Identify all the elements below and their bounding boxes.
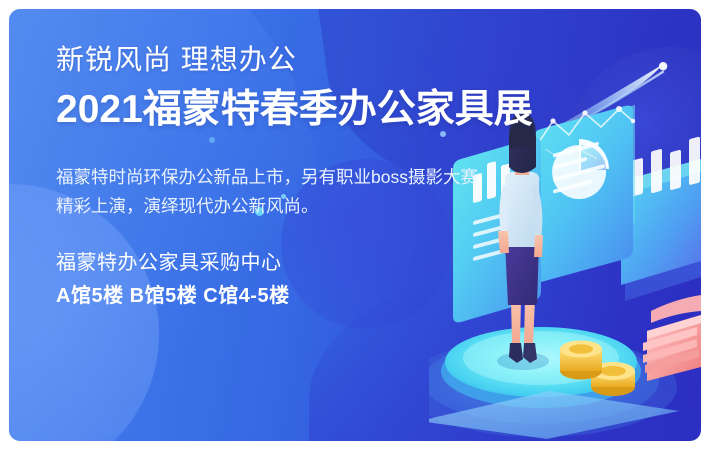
glowing-platform [429, 327, 679, 439]
banknote-stack [643, 295, 701, 381]
banner-footer-venue: 福蒙特办公家具采购中心 [56, 250, 526, 277]
banner-canvas: 新锐风尚 理想办公 2021福蒙特春季办公家具展 福蒙特时尚环保办公新品上市，另… [9, 9, 701, 441]
banner-body-text: 福蒙特时尚环保办公新品上市，另有职业boss摄影大赛精彩上演，演绎现代办公新风尚… [56, 163, 488, 220]
banner-headline: 2021福蒙特春季办公家具展 [56, 86, 526, 134]
banner-text-block: 新锐风尚 理想办公 2021福蒙特春季办公家具展 福蒙特时尚环保办公新品上市，另… [56, 43, 526, 311]
banner-frame: 新锐风尚 理想办公 2021福蒙特春季办公家具展 福蒙特时尚环保办公新品上市，另… [0, 0, 711, 451]
banner-eyebrow: 新锐风尚 理想办公 [56, 43, 526, 77]
banner-footer-halls: A馆5楼 B馆5楼 C馆4-5楼 [56, 282, 526, 311]
dashboard-panel-mid [533, 105, 635, 282]
banner-footer: 福蒙特办公家具采购中心 A馆5楼 B馆5楼 C馆4-5楼 [56, 250, 526, 311]
